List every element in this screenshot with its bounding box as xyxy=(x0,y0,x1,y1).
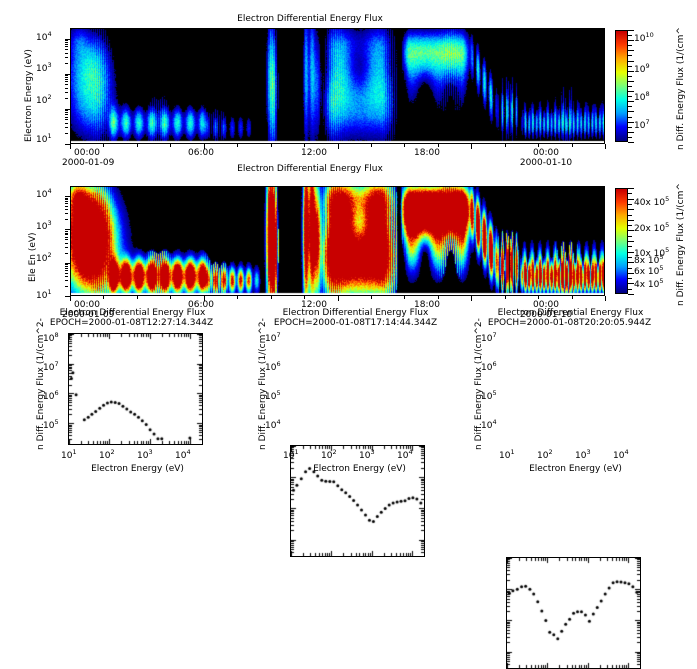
axis-tick xyxy=(271,296,272,299)
axis-tick xyxy=(471,296,472,301)
mid-cbtick-6: 6x 105 xyxy=(634,264,664,277)
top-ytick-1: 101 xyxy=(36,132,52,145)
bl-ytick-7: 107 xyxy=(43,360,59,373)
axis-tick xyxy=(271,144,272,147)
axis-tick xyxy=(65,239,68,240)
axis-tick xyxy=(103,296,104,299)
axis-tick xyxy=(65,209,68,210)
top-cbtick-9: 109 xyxy=(634,62,650,75)
colorbar-tick xyxy=(628,215,632,216)
colorbar-tick xyxy=(628,199,634,200)
mid-spectrogram-canvas xyxy=(71,187,604,295)
colorbar-tick xyxy=(628,86,632,87)
axis-tick xyxy=(65,81,68,82)
colorbar-tick xyxy=(628,40,634,41)
axis-tick xyxy=(65,63,68,64)
bl-xtick-3: 103 xyxy=(137,448,153,461)
bottom-right-subtitle: EPOCH=2000-01-08T20:20:05.944Z xyxy=(462,318,677,328)
br-ytick-4: 104 xyxy=(481,418,497,431)
axis-tick xyxy=(65,219,68,220)
axis-tick xyxy=(505,144,506,147)
colorbar-tick xyxy=(628,111,634,112)
axis-tick xyxy=(65,74,70,75)
bottom-mid-title: Electron Differential Energy Flux xyxy=(253,308,458,318)
colorbar-tick xyxy=(628,81,634,82)
axis-tick xyxy=(65,196,70,197)
top-ytick-3: 103 xyxy=(36,61,52,74)
axis-tick xyxy=(65,84,68,85)
bottom-left-xlabel: Electron Energy (eV) xyxy=(60,464,215,474)
axis-tick xyxy=(65,49,68,50)
axis-tick xyxy=(65,199,68,200)
axis-tick xyxy=(237,144,238,147)
axis-tick xyxy=(65,133,68,134)
axis-tick xyxy=(65,280,68,281)
axis-tick xyxy=(65,57,68,58)
bm-ytick-4: 104 xyxy=(265,418,281,431)
axis-tick xyxy=(65,286,68,287)
top-colorbar-gradient xyxy=(616,31,627,141)
colorbar-tick xyxy=(628,117,632,118)
colorbar-tick xyxy=(628,45,632,46)
axis-tick xyxy=(65,75,68,76)
bm-xtick-1: 101 xyxy=(283,448,299,461)
bm-ytick-5: 105 xyxy=(265,389,281,402)
bottom-left-title: Electron Differential Energy Flux xyxy=(30,308,235,318)
axis-tick xyxy=(304,144,305,147)
top-spectrogram-plot[interactable] xyxy=(70,28,605,144)
axis-tick xyxy=(65,264,68,265)
axis-tick xyxy=(404,144,405,147)
mid-cbtick-40: 40x 105 xyxy=(634,195,669,208)
bottom-left-plot[interactable] xyxy=(68,333,203,445)
axis-tick xyxy=(338,144,339,149)
colorbar-tick xyxy=(628,76,632,77)
colorbar-tick xyxy=(628,294,634,295)
colorbar-tick xyxy=(628,230,634,231)
axis-tick xyxy=(65,270,68,271)
axis-tick xyxy=(65,98,68,99)
colorbar-tick xyxy=(628,204,632,205)
axis-tick xyxy=(65,88,68,89)
axis-tick xyxy=(538,144,539,147)
bl-ytick-6: 106 xyxy=(43,389,59,402)
axis-tick xyxy=(65,268,68,269)
axis-tick xyxy=(65,296,70,297)
colorbar-tick xyxy=(628,209,634,210)
bm-ytick-6: 106 xyxy=(265,360,281,373)
axis-tick xyxy=(438,144,439,147)
br-xtick-2: 102 xyxy=(537,448,553,461)
br-xtick-1: 101 xyxy=(499,448,515,461)
colorbar-tick xyxy=(628,30,634,31)
colorbar-tick xyxy=(628,132,634,133)
axis-tick xyxy=(65,273,68,274)
bottom-mid-xlabel: Electron Energy (eV) xyxy=(282,464,437,474)
bl-ytick-5: 105 xyxy=(43,418,59,431)
colorbar-tick xyxy=(628,236,632,237)
axis-tick xyxy=(65,46,68,47)
br-ytick-5: 105 xyxy=(481,389,497,402)
colorbar-tick xyxy=(628,55,632,56)
colorbar-tick xyxy=(628,246,632,247)
axis-tick xyxy=(371,296,372,299)
colorbar-tick xyxy=(628,193,632,194)
axis-tick xyxy=(438,296,439,299)
bl-xtick-2: 102 xyxy=(99,448,115,461)
colorbar-tick xyxy=(628,225,632,226)
top-ytick-2: 102 xyxy=(36,93,52,106)
axis-tick xyxy=(65,198,68,199)
colorbar-tick xyxy=(628,273,634,274)
colorbar-tick xyxy=(628,96,632,97)
bm-ytick-7: 107 xyxy=(265,331,281,344)
axis-tick xyxy=(237,296,238,299)
axis-tick xyxy=(65,39,70,40)
axis-tick xyxy=(137,296,138,299)
colorbar-tick xyxy=(628,35,632,36)
top-xtick-1: 06:00 xyxy=(176,148,226,158)
axis-tick xyxy=(65,237,68,238)
colorbar-tick xyxy=(628,268,632,269)
top-xtick-3: 18:00 xyxy=(402,148,452,158)
axis-tick xyxy=(338,296,339,301)
br-xtick-3: 103 xyxy=(575,448,591,461)
axis-tick xyxy=(572,144,573,147)
colorbar-tick xyxy=(628,91,634,92)
axis-tick xyxy=(538,296,539,299)
bottom-mid-canvas xyxy=(291,446,424,556)
bm-xtick-4: 104 xyxy=(397,448,413,461)
colorbar-tick xyxy=(628,106,632,107)
axis-tick xyxy=(404,296,405,299)
colorbar-tick xyxy=(628,71,634,72)
colorbar-tick xyxy=(628,66,632,67)
top-cbtick-8: 108 xyxy=(634,90,650,103)
br-ytick-6: 106 xyxy=(481,360,497,373)
axis-tick xyxy=(65,119,68,120)
axis-tick xyxy=(137,144,138,147)
axis-tick xyxy=(65,231,68,232)
axis-tick xyxy=(65,123,68,124)
axis-tick xyxy=(471,144,472,149)
axis-tick xyxy=(605,296,606,301)
top-spectrogram-canvas xyxy=(71,29,604,143)
colorbar-tick xyxy=(628,278,632,279)
axis-tick xyxy=(304,296,305,299)
bm-xtick-2: 102 xyxy=(321,448,337,461)
top-ytick-4: 104 xyxy=(36,30,52,43)
axis-tick xyxy=(65,206,68,207)
colorbar-tick xyxy=(628,127,632,128)
mid-cbtick-4: 4x 105 xyxy=(634,277,664,290)
axis-tick xyxy=(65,79,68,80)
axis-tick xyxy=(65,229,70,230)
mid-ytick-2: 102 xyxy=(36,251,52,264)
axis-tick xyxy=(65,44,68,45)
bottom-mid-plot[interactable] xyxy=(290,445,425,557)
axis-tick xyxy=(65,243,68,244)
colorbar-tick xyxy=(628,262,634,263)
axis-tick xyxy=(70,296,71,301)
axis-tick xyxy=(65,53,68,54)
axis-tick xyxy=(65,201,68,202)
colorbar-tick xyxy=(628,137,632,138)
bm-xtick-3: 103 xyxy=(359,448,375,461)
axis-tick xyxy=(65,247,68,248)
top-colorbar[interactable] xyxy=(615,30,628,142)
bottom-right-title: Electron Differential Energy Flux xyxy=(468,308,673,318)
axis-tick xyxy=(65,276,68,277)
axis-tick xyxy=(65,109,70,110)
mid-colorbar-gradient xyxy=(616,189,627,293)
axis-tick xyxy=(65,144,70,145)
axis-tick xyxy=(65,263,70,264)
axis-tick xyxy=(70,144,71,149)
mid-spectrogram-plot[interactable] xyxy=(70,186,605,296)
bl-ytick-8: 108 xyxy=(43,331,59,344)
bottom-right-plot[interactable] xyxy=(506,557,641,669)
bottom-right-canvas xyxy=(507,558,640,668)
br-ytick-7: 107 xyxy=(481,331,497,344)
colorbar-tick xyxy=(628,142,634,143)
axis-tick xyxy=(65,127,68,128)
axis-tick xyxy=(65,266,68,267)
colorbar-tick xyxy=(628,50,634,51)
colorbar-tick xyxy=(628,283,634,284)
top-xtick-2: 12:00 xyxy=(289,148,339,158)
top-cbtick-10: 1010 xyxy=(634,31,654,44)
colorbar-tick xyxy=(628,188,634,189)
mid-panel-title: Electron Differential Energy Flux xyxy=(0,164,620,174)
colorbar-tick xyxy=(628,252,634,253)
mid-ytick-1: 101 xyxy=(36,288,52,301)
bl-xtick-1: 101 xyxy=(61,448,77,461)
colorbar-tick xyxy=(628,101,634,102)
axis-tick xyxy=(65,110,68,111)
bottom-right-xlabel: Electron Energy (eV) xyxy=(498,464,653,474)
colorbar-tick xyxy=(628,122,634,123)
bottom-left-subtitle: EPOCH=2000-01-08T12:27:14.344Z xyxy=(24,318,239,328)
mid-colorbar-label: n Diff. Energy Flux (1/(cm^ xyxy=(676,183,686,306)
axis-tick xyxy=(605,144,606,149)
axis-tick xyxy=(170,296,171,299)
mid-ytick-3: 103 xyxy=(36,219,52,232)
colorbar-tick xyxy=(628,220,634,221)
axis-tick xyxy=(572,296,573,299)
axis-tick xyxy=(371,144,372,147)
axis-tick xyxy=(65,112,68,113)
bottom-left-canvas xyxy=(69,334,202,444)
colorbar-tick xyxy=(628,257,632,258)
axis-tick xyxy=(65,234,68,235)
axis-tick xyxy=(65,114,68,115)
axis-tick xyxy=(103,144,104,147)
axis-tick xyxy=(505,296,506,299)
bottom-mid-subtitle: EPOCH=2000-01-08T17:14:44.344Z xyxy=(248,318,463,328)
axis-tick xyxy=(65,213,68,214)
axis-tick xyxy=(65,233,68,234)
axis-tick xyxy=(65,42,68,43)
mid-colorbar[interactable] xyxy=(615,188,628,294)
colorbar-tick xyxy=(628,241,634,242)
axis-tick xyxy=(204,144,205,149)
axis-tick xyxy=(65,117,68,118)
colorbar-tick xyxy=(628,61,634,62)
axis-tick xyxy=(65,203,68,204)
colorbar-tick xyxy=(628,289,632,290)
mid-ytick-4: 104 xyxy=(36,187,52,200)
axis-tick xyxy=(65,253,68,254)
br-xtick-4: 104 xyxy=(613,448,629,461)
axis-tick xyxy=(204,296,205,301)
top-cbtick-7: 107 xyxy=(634,118,650,131)
axis-tick xyxy=(65,40,68,41)
top-panel-title: Electron Differential Energy Flux xyxy=(0,14,620,24)
top-colorbar-label: n Diff. Energy Flux (1/(cm^ xyxy=(676,27,686,150)
axis-tick xyxy=(65,92,68,93)
axis-tick xyxy=(170,144,171,147)
top-panel-ylabel: Electron Energy (eV) xyxy=(24,49,34,142)
mid-cbtick-20: 20x 105 xyxy=(634,221,669,234)
axis-tick xyxy=(65,77,68,78)
bl-xtick-4: 104 xyxy=(175,448,191,461)
